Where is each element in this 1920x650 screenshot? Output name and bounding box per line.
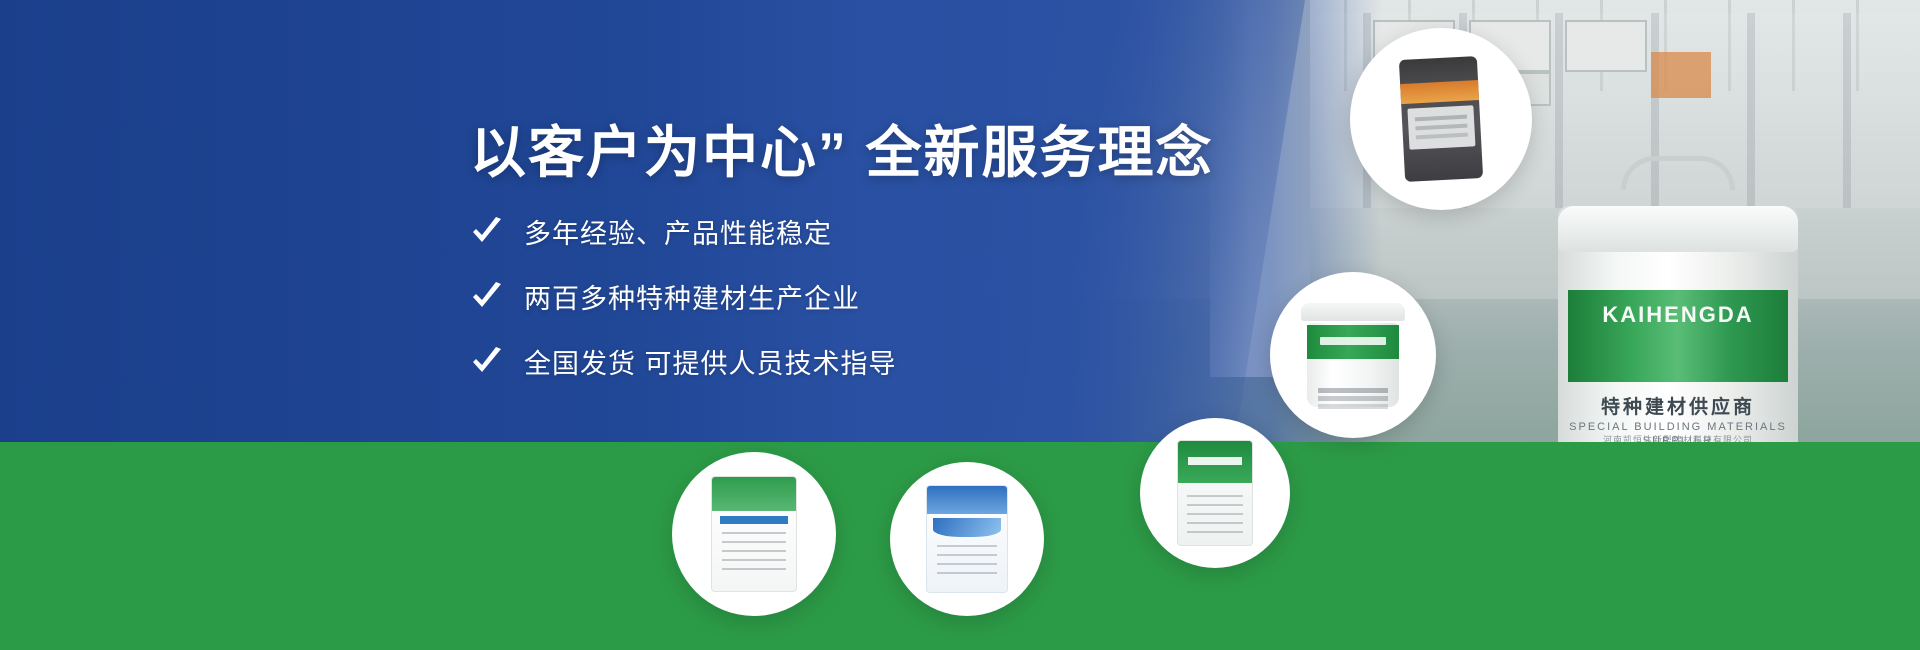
hero-banner: KAIHENGDA 特种建材供应商 SPECIAL BUILDING MATER… (0, 0, 1920, 650)
list-item: 两百多种特种建材生产企业 (470, 277, 897, 316)
list-item-label: 全国发货 可提供人员技术指导 (524, 342, 897, 381)
check-icon (470, 280, 504, 314)
banner-content: 以客户为中心” 全新服务理念 多年经验、产品性能稳定 两百多种特种建材生产企业 (0, 0, 1920, 650)
list-item: 全国发货 可提供人员技术指导 (470, 342, 897, 381)
list-item-label: 两百多种特种建材生产企业 (524, 277, 860, 316)
feature-list: 多年经验、产品性能稳定 两百多种特种建材生产企业 全国发货 可提供人员技术指导 (470, 212, 897, 407)
list-item: 多年经验、产品性能稳定 (470, 212, 897, 251)
check-icon (470, 215, 504, 249)
page-title: 以客户为中心” 全新服务理念 (470, 108, 1214, 189)
check-icon (470, 345, 504, 379)
list-item-label: 多年经验、产品性能稳定 (524, 212, 832, 251)
